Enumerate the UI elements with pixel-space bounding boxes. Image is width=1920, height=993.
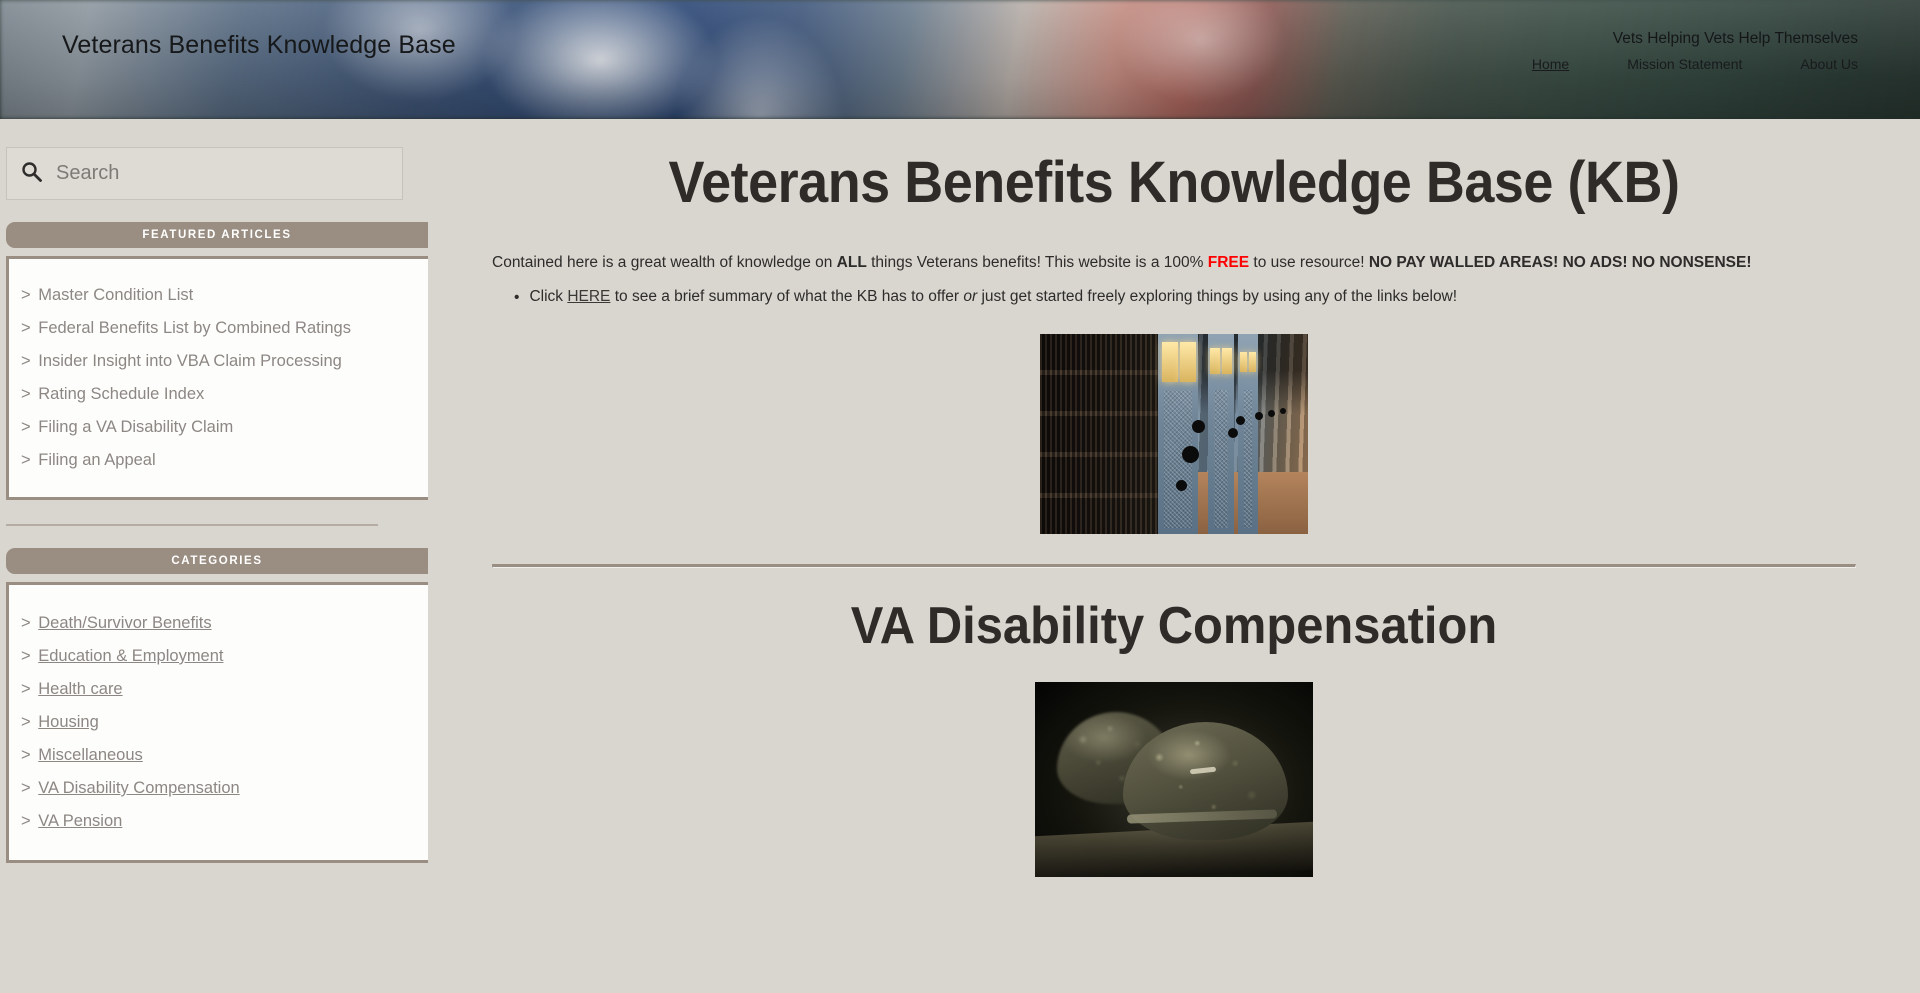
featured-articles-list: > Master Condition List > Federal Benefi… <box>21 279 428 477</box>
nav-item-about-us[interactable]: About Us <box>1800 56 1858 72</box>
category-link-label: Death/Survivor Benefits <box>38 614 211 632</box>
bullet-text-italic: or <box>963 288 977 305</box>
here-link[interactable]: HERE <box>567 288 610 305</box>
list-item: > Insider Insight into VBA Claim Process… <box>21 345 428 378</box>
nav-item-mission-statement[interactable]: Mission Statement <box>1627 56 1742 72</box>
library-crank-knob <box>1176 480 1187 491</box>
helmet-figure <box>492 682 1856 877</box>
caret-icon: > <box>21 319 31 337</box>
library-crank-knob <box>1182 446 1199 463</box>
categories-body: > Death/Survivor Benefits > Education & … <box>6 582 428 863</box>
nav-item-home[interactable]: Home <box>1532 56 1569 72</box>
list-item: > Education & Employment <box>21 640 428 673</box>
category-link-education-employment[interactable]: > Education & Employment <box>21 647 224 665</box>
list-item: > Rating Schedule Index <box>21 378 428 411</box>
library-label-plate <box>1249 352 1256 372</box>
list-item: > Federal Benefits List by Combined Rati… <box>21 312 428 345</box>
featured-link-federal-benefits-list[interactable]: > Federal Benefits List by Combined Rati… <box>21 319 351 337</box>
featured-link-label: Federal Benefits List by Combined Rating… <box>38 319 351 337</box>
caret-icon: > <box>21 647 31 665</box>
library-label-plate <box>1222 348 1232 374</box>
caret-icon: > <box>21 451 31 469</box>
library-label-plate <box>1180 342 1196 382</box>
section-title-va-disability-compensation: VA Disability Compensation <box>533 596 1815 656</box>
intro-emphasis-all: ALL <box>837 254 867 271</box>
featured-link-label: Filing a VA Disability Claim <box>38 418 233 436</box>
library-figure <box>492 334 1856 534</box>
list-item: > VA Disability Compensation <box>21 772 428 805</box>
featured-link-label: Master Condition List <box>38 286 193 304</box>
caret-icon: > <box>21 746 31 764</box>
site-header: Veterans Benefits Knowledge Base Vets He… <box>0 0 1920 119</box>
category-link-miscellaneous[interactable]: > Miscellaneous <box>21 746 143 764</box>
caret-icon: > <box>21 418 31 436</box>
category-link-housing[interactable]: > Housing <box>21 713 99 731</box>
intro-emphasis-no-pay-wall: NO PAY WALLED AREAS! NO ADS! NO NONSENSE <box>1369 254 1747 271</box>
library-crank-knob <box>1255 412 1263 420</box>
library-cabinet-mesh <box>1244 390 1252 528</box>
categories-panel: CATEGORIES > Death/Survivor Benefits > E… <box>6 548 403 863</box>
library-crank-knob <box>1192 420 1205 433</box>
search-box[interactable] <box>6 147 403 200</box>
page-title: Veterans Benefits Knowledge Base (KB) <box>540 149 1809 216</box>
bullet-icon: • <box>514 288 519 308</box>
intro-text-1: Contained here is a great wealth of know… <box>492 254 837 271</box>
library-dark-shelves <box>1040 334 1158 534</box>
caret-icon: > <box>21 286 31 304</box>
military-helmets-image <box>1035 682 1313 877</box>
bullet-text-middle: to see a brief summary of what the KB ha… <box>610 288 963 305</box>
list-item: > Health care <box>21 673 428 706</box>
library-label-plate <box>1210 348 1220 374</box>
bullet-text-after: just get started freely exploring things… <box>977 288 1457 305</box>
library-crank-knob <box>1228 428 1238 438</box>
featured-link-insider-insight[interactable]: > Insider Insight into VBA Claim Process… <box>21 352 342 370</box>
featured-link-master-condition-list[interactable]: > Master Condition List <box>21 286 193 304</box>
intro-emphasis-free: FREE <box>1208 254 1249 271</box>
search-input[interactable] <box>56 162 388 185</box>
category-link-label: VA Disability Compensation <box>38 779 239 797</box>
library-label-plate <box>1162 342 1178 382</box>
featured-link-label: Rating Schedule Index <box>38 385 204 403</box>
list-item: > Death/Survivor Benefits <box>21 607 428 640</box>
intro-text-3: to use resource! <box>1249 254 1369 271</box>
category-link-death-survivor-benefits[interactable]: > Death/Survivor Benefits <box>21 614 212 632</box>
search-icon <box>21 161 42 187</box>
sidebar-divider <box>6 524 378 526</box>
list-item: > VA Pension <box>21 805 428 838</box>
featured-link-rating-schedule-index[interactable]: > Rating Schedule Index <box>21 385 204 403</box>
caret-icon: > <box>21 713 31 731</box>
content-divider <box>492 564 1856 568</box>
list-item: > Miscellaneous <box>21 739 428 772</box>
intro-text-2: things Veterans benefits! This website i… <box>867 254 1208 271</box>
caret-icon: > <box>21 352 31 370</box>
category-link-label: Education & Employment <box>38 647 223 665</box>
list-item: > Filing an Appeal <box>21 444 428 477</box>
site-tagline: Vets Helping Vets Help Themselves <box>1613 30 1858 48</box>
intro-bullet-row: • Click HERE to see a brief summary of w… <box>492 288 1856 308</box>
category-link-label: Health care <box>38 680 122 698</box>
caret-icon: > <box>21 680 31 698</box>
category-link-label: Housing <box>38 713 99 731</box>
featured-link-label: Insider Insight into VBA Claim Processin… <box>38 352 342 370</box>
bullet-text-before: Click <box>529 288 567 305</box>
bullet-text: Click HERE to see a brief summary of wha… <box>529 288 1457 306</box>
list-item: > Filing a VA Disability Claim <box>21 411 428 444</box>
sidebar: FEATURED ARTICLES > Master Condition Lis… <box>0 119 428 863</box>
intro-text-4: ! <box>1746 254 1751 271</box>
categories-list: > Death/Survivor Benefits > Education & … <box>21 607 428 838</box>
library-crank-knob <box>1268 410 1275 417</box>
category-link-label: VA Pension <box>38 812 122 830</box>
featured-articles-heading: FEATURED ARTICLES <box>6 222 428 248</box>
featured-link-filing-an-appeal[interactable]: > Filing an Appeal <box>21 451 156 469</box>
main-content: Veterans Benefits Knowledge Base (KB) Co… <box>428 119 1920 877</box>
featured-articles-panel: FEATURED ARTICLES > Master Condition Lis… <box>6 222 403 500</box>
page-body: FEATURED ARTICLES > Master Condition Lis… <box>0 119 1920 993</box>
caret-icon: > <box>21 614 31 632</box>
caret-icon: > <box>21 812 31 830</box>
intro-paragraph: Contained here is a great wealth of know… <box>492 252 1856 274</box>
caret-icon: > <box>21 385 31 403</box>
library-cabinet-mesh <box>1214 390 1228 528</box>
category-link-label: Miscellaneous <box>38 746 143 764</box>
library-crank-knob <box>1236 416 1245 425</box>
list-item: > Master Condition List <box>21 279 428 312</box>
list-item: > Housing <box>21 706 428 739</box>
library-label-plate <box>1240 352 1247 372</box>
category-link-health-care[interactable]: > Health care <box>21 680 123 698</box>
caret-icon: > <box>21 779 31 797</box>
library-crank-knob <box>1280 408 1286 414</box>
featured-link-label: Filing an Appeal <box>38 451 155 469</box>
main-navigation: Home Mission Statement About Us <box>1532 56 1858 72</box>
featured-articles-body: > Master Condition List > Federal Benefi… <box>6 256 428 500</box>
category-link-va-pension[interactable]: > VA Pension <box>21 812 122 830</box>
featured-link-filing-va-disability-claim[interactable]: > Filing a VA Disability Claim <box>21 418 233 436</box>
site-title: Veterans Benefits Knowledge Base <box>62 31 456 60</box>
category-link-va-disability-compensation[interactable]: > VA Disability Compensation <box>21 779 240 797</box>
library-archive-image <box>1040 334 1308 534</box>
categories-heading: CATEGORIES <box>6 548 428 574</box>
